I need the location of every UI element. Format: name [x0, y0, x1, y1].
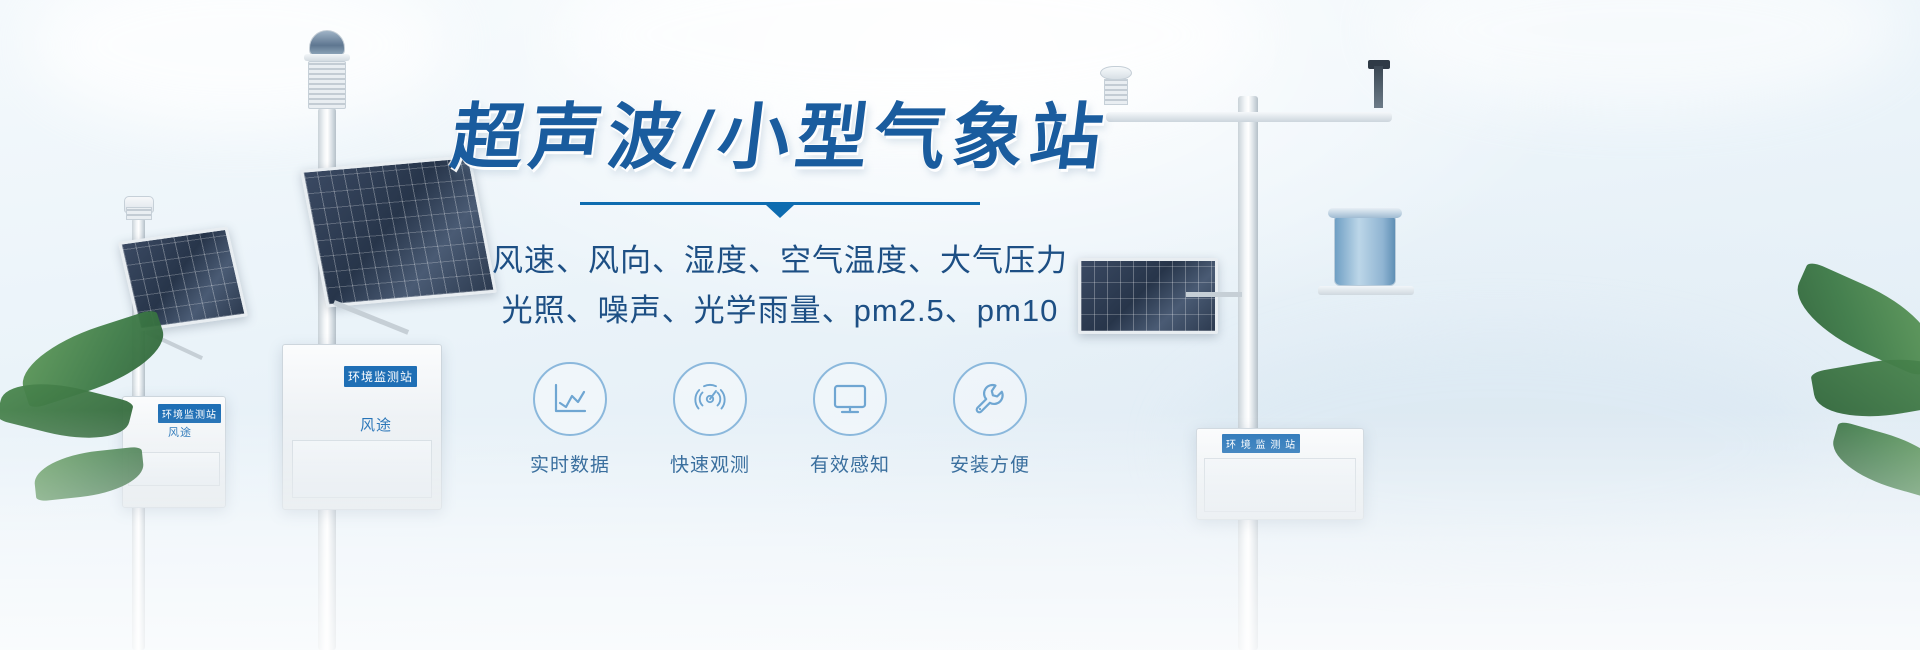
feature-item-realtime-data: 实时数据 [528, 362, 612, 477]
subtitle-line-2: 光照、噪声、光学雨量、pm2.5、pm10 [430, 286, 1130, 336]
sensor-cap [304, 54, 350, 61]
product-banner: 环境监测站 风途 环境监测站 风途 [0, 0, 1920, 650]
feature-label: 有效感知 [808, 450, 892, 477]
feature-label: 实时数据 [528, 450, 612, 477]
banner-content: 超声波/小型气象站 风速、风向、湿度、空气温度、大气压力 光照、噪声、光学雨量、… [430, 96, 1130, 477]
feature-label: 安装方便 [948, 450, 1032, 477]
feature-label: 快速观测 [668, 450, 752, 477]
radar-wave-icon [673, 362, 747, 436]
radiation-shield [126, 207, 152, 220]
divider-triangle-icon [766, 205, 794, 218]
monitor-icon [813, 362, 887, 436]
cloud-decoration [1380, 0, 1900, 110]
instrument-shelf [1318, 286, 1414, 295]
subtitle-line-1: 风速、风向、湿度、空气温度、大气压力 [430, 236, 1130, 286]
ultrasonic-anemometer [1100, 66, 1132, 80]
rain-gauge [1334, 214, 1396, 286]
feature-item-effective-sensing: 有效感知 [808, 362, 892, 477]
line-chart-icon [533, 362, 607, 436]
panel-bracket [1186, 292, 1242, 297]
banner-title: 超声波/小型气象站 [425, 96, 1135, 180]
feature-list: 实时数据 快速观测 [430, 362, 1130, 477]
wrench-icon [953, 362, 1027, 436]
feature-item-fast-observation: 快速观测 [668, 362, 752, 477]
feature-item-easy-installation: 安装方便 [948, 362, 1032, 477]
banner-subtitle: 风速、风向、湿度、空气温度、大气压力 光照、噪声、光学雨量、pm2.5、pm10 [430, 236, 1130, 336]
wind-vane-shaft [1374, 66, 1383, 108]
cloud-decoration [30, 0, 450, 130]
rain-gauge-rim [1328, 208, 1402, 218]
panel-bracket [333, 300, 409, 335]
cross-arm [1106, 112, 1392, 122]
cabinet-tag: 环境监测站 [344, 366, 417, 387]
radiation-shield [308, 61, 346, 109]
title-divider [580, 202, 980, 216]
